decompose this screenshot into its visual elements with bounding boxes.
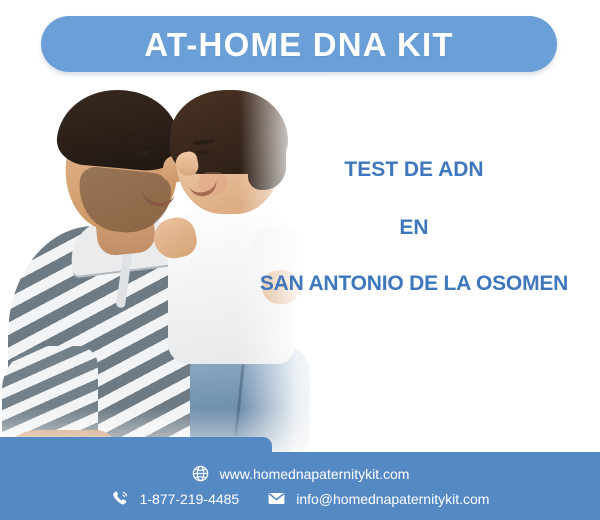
phone-item[interactable]: 1-877-219-4485	[111, 489, 240, 508]
footer-row-phone-email: 1-877-219-4485 info@homednapaternitykit.…	[111, 489, 490, 508]
email-item[interactable]: info@homednapaternitykit.com	[267, 489, 489, 508]
envelope-icon	[267, 489, 286, 508]
website-text: www.homednapaternitykit.com	[220, 467, 410, 481]
headline-line-3: SAN ANTONIO DE LA OSOMEN	[228, 272, 600, 296]
header-banner: AT-HOME DNA KIT	[41, 16, 557, 72]
phone-icon	[111, 489, 130, 508]
page-title: AT-HOME DNA KIT	[144, 28, 453, 61]
website-item[interactable]: www.homednapaternitykit.com	[191, 464, 410, 483]
headline-line-1: TEST DE ADN	[228, 158, 600, 182]
poster-canvas: AT-HOME DNA KIT TEST DE ADN	[0, 0, 600, 520]
headline-block: TEST DE ADN EN SAN ANTONIO DE LA OSOMEN	[228, 158, 600, 296]
email-text: info@homednapaternitykit.com	[296, 492, 489, 506]
headline-line-2: EN	[228, 216, 600, 240]
phone-text: 1-877-219-4485	[140, 492, 240, 506]
footer-row-website: www.homednapaternitykit.com	[191, 464, 410, 483]
footer-contact-block: www.homednapaternitykit.com 1-877-219-44…	[0, 452, 600, 520]
globe-icon	[191, 464, 210, 483]
man-hair	[55, 85, 183, 173]
